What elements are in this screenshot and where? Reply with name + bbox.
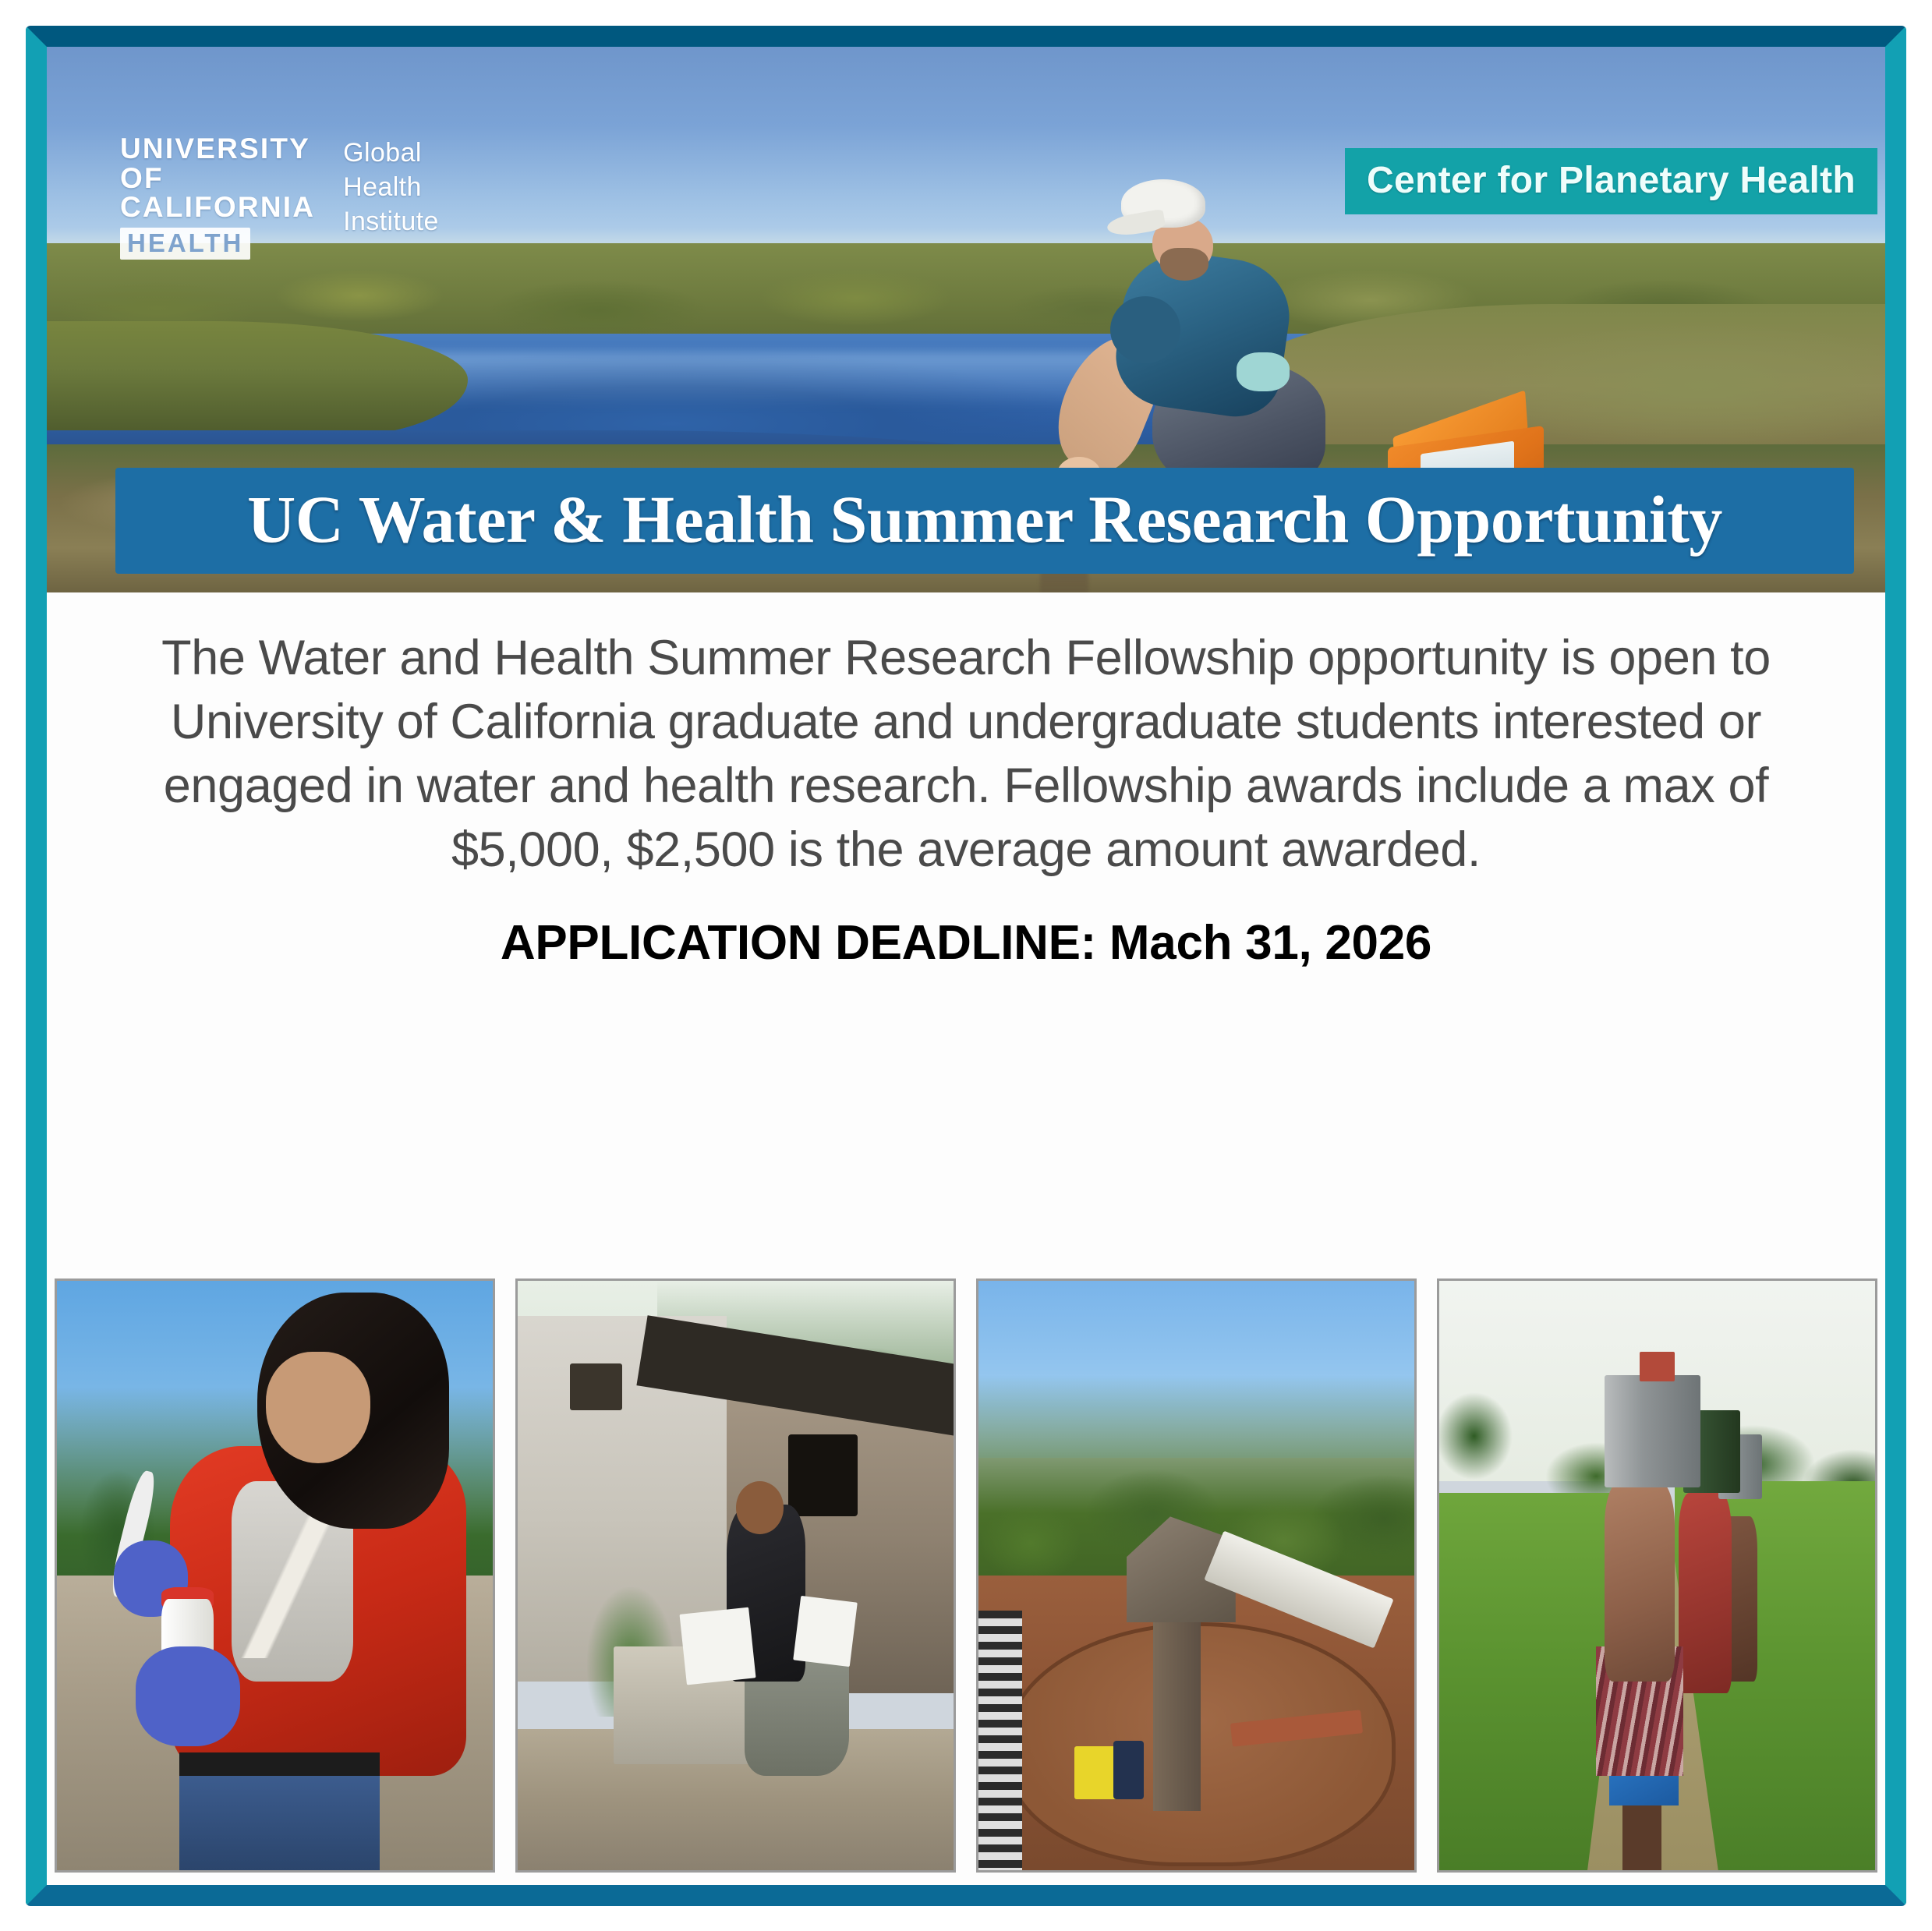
flyer-inner: UNIVERSITY OF CALIFORNIA HEALTH Global H… (47, 47, 1885, 1885)
photo-strip (47, 1261, 1885, 1885)
uc-line-university: UNIVERSITY (120, 134, 315, 164)
ghi-line-institute: Institute (343, 204, 439, 239)
t2-window (788, 1434, 858, 1517)
researcher-figure (1053, 179, 1380, 515)
thumbnail-photo-1 (55, 1278, 495, 1873)
t1-pants (179, 1776, 380, 1870)
ghi-wordmark: Global Health Institute (343, 134, 439, 239)
application-deadline: APPLICATION DEADLINE: Mach 31, 2026 (119, 915, 1813, 971)
description-paragraph: The Water and Health Summer Research Fel… (119, 627, 1813, 882)
thumbnail-photo-4 (1437, 1278, 1877, 1873)
t2-head (736, 1481, 784, 1534)
t4-drum-cap (1640, 1352, 1675, 1381)
page-title: UC Water & Health Summer Research Opport… (115, 480, 1854, 558)
ghi-line-global: Global (343, 136, 439, 170)
t2-wall-vent (570, 1363, 622, 1410)
researcher-sleeve (1110, 296, 1180, 363)
researcher-glove (1237, 352, 1290, 391)
uc-line-california: CALIFORNIA (120, 193, 315, 222)
flyer-card: UNIVERSITY OF CALIFORNIA HEALTH Global H… (26, 26, 1906, 1906)
t4-lead-woman (1605, 1481, 1674, 1682)
t3-pump-pedestal (1153, 1611, 1201, 1811)
hero-photo: UNIVERSITY OF CALIFORNIA HEALTH Global H… (47, 47, 1885, 592)
uc-line-of: OF (120, 164, 315, 193)
body-text-block: The Water and Health Summer Research Fel… (47, 592, 1885, 971)
t2-papers-right (793, 1596, 857, 1667)
thumbnail-photo-3 (976, 1278, 1417, 1873)
ghi-line-health: Health (343, 170, 439, 204)
researcher-beard (1160, 248, 1208, 281)
t1-face (266, 1352, 370, 1464)
t2-papers-left (680, 1607, 756, 1685)
thumbnail-photo-2 (515, 1278, 956, 1873)
t4-second-woman (1679, 1493, 1731, 1693)
t3-bystander (976, 1611, 1022, 1870)
t4-metal-water-drum (1605, 1375, 1700, 1487)
uc-wordmark: UNIVERSITY OF CALIFORNIA HEALTH (120, 134, 315, 260)
uc-health-logo: UNIVERSITY OF CALIFORNIA HEALTH Global H… (120, 134, 439, 260)
t1-lower-glove (136, 1646, 240, 1747)
uc-health-badge: HEALTH (120, 228, 250, 260)
center-for-planetary-health-badge: Center for Planetary Health (1345, 148, 1877, 214)
title-banner: UC Water & Health Summer Research Opport… (115, 468, 1854, 574)
t3-dark-jug (1113, 1741, 1144, 1800)
